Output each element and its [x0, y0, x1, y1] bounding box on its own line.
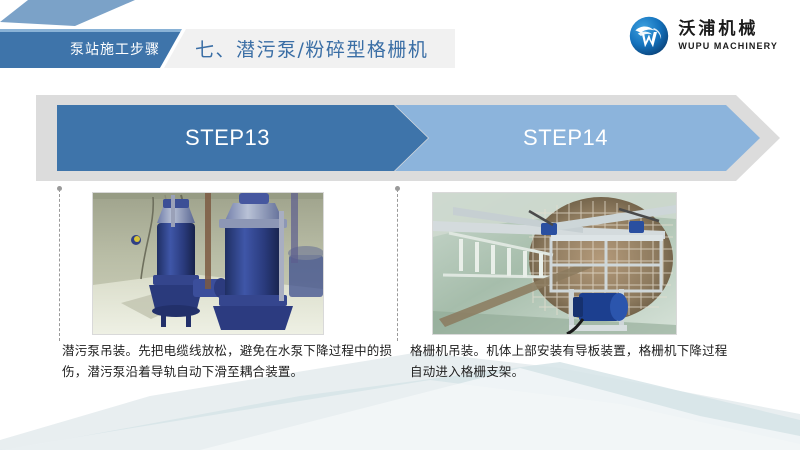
grille-machine-installation-photo	[432, 192, 677, 335]
connector-line-left	[59, 189, 60, 341]
company-logo: 沃浦机械 WUPU MACHINERY	[629, 16, 778, 56]
wave-shape-front	[0, 380, 800, 450]
step-chevron-14[interactable]: STEP14	[395, 105, 760, 171]
step-chevron-13[interactable]: STEP13	[57, 105, 428, 171]
corner-triangle-decor	[0, 0, 135, 26]
slide-canvas: 泵站施工步骤 七、潜污泵/粉碎型格栅机 沃浦机械 WUPU MACHINERY	[0, 0, 800, 450]
connector-line-right	[397, 189, 398, 341]
submersible-pump-installation-photo	[92, 192, 324, 335]
logo-name-cn: 沃浦机械	[678, 21, 778, 38]
page-title: 七、潜污泵/粉碎型格栅机	[195, 29, 428, 68]
step-chevron-band: STEP13 STEP14	[36, 95, 780, 181]
caption-step14: 格栅机吊装。机体上部安装有导板装置，格栅机下降过程自动进入格栅支架。	[410, 340, 740, 383]
caption-step13: 潜污泵吊装。先把电缆线放松，避免在水泵下降过程中的损伤，潜污泵沿着导轨自动下滑至…	[62, 340, 400, 383]
header-kicker-label: 泵站施工步骤	[0, 29, 172, 68]
logo-text-block: 沃浦机械 WUPU MACHINERY	[678, 21, 778, 51]
logo-name-en: WUPU MACHINERY	[678, 42, 778, 51]
wupu-w-circle-icon	[629, 16, 669, 56]
